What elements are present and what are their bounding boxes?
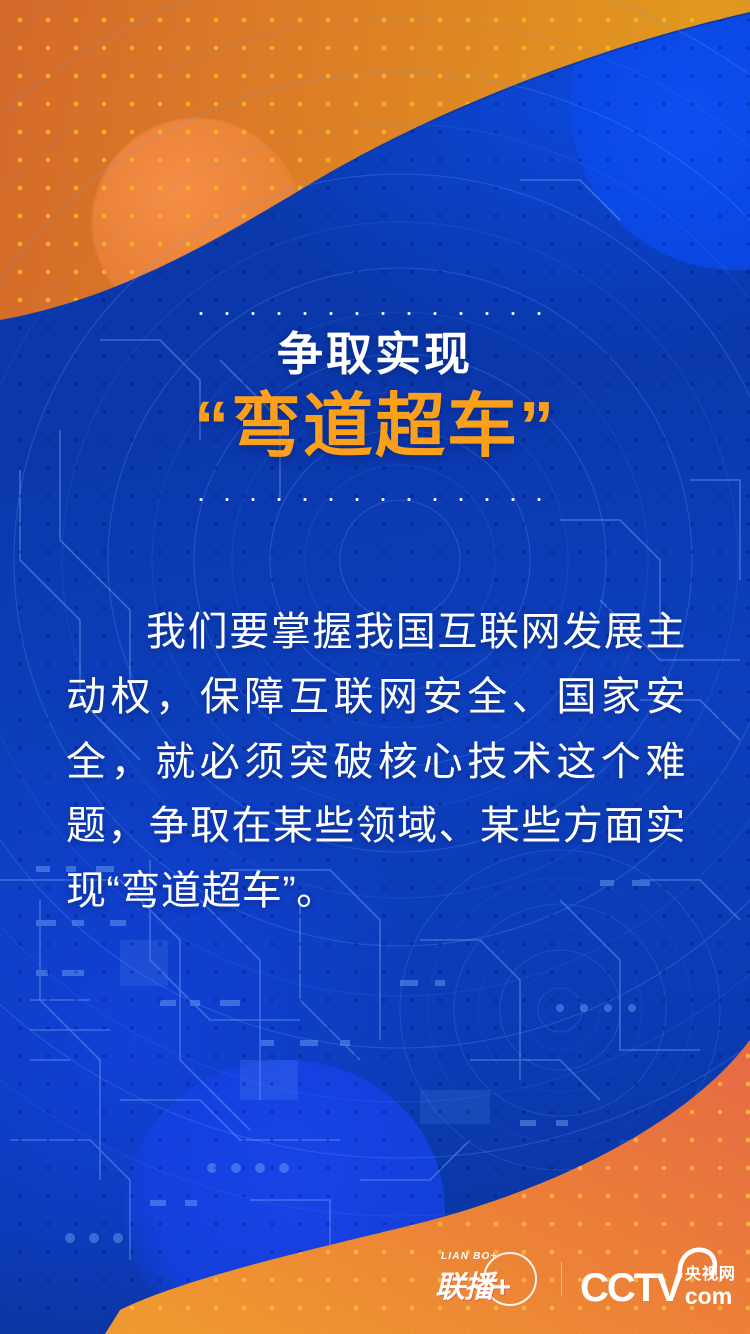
lianbo-chinese-text: 联播+ <box>435 1262 510 1306</box>
dotted-rule-top <box>188 311 563 316</box>
logo-divider <box>561 1262 562 1296</box>
headline-block: 争取实现 “弯道超车” <box>0 328 750 467</box>
quote-body-text: 我们要掌握我国互联网发展主动权，保障互联网安全、国家安全，就必须突破核心技术这个… <box>66 600 686 924</box>
cctv-logo[interactable]: CCTV 央视网 com <box>580 1250 736 1308</box>
cctv-swoosh-icon <box>676 1246 718 1288</box>
lianbo-plus-logo[interactable]: LIAN BO+ 联播+ <box>425 1248 543 1310</box>
lianbo-pinyin-text: LIAN BO+ <box>441 1251 498 1262</box>
headline-line-1: 争取实现 <box>0 328 750 381</box>
headline-line-2: “弯道超车” <box>0 385 750 468</box>
dotted-rule-bottom <box>188 497 563 502</box>
cctv-com-text: com <box>685 1285 736 1308</box>
poster-canvas: 争取实现 “弯道超车” 我们要掌握我国互联网发展主动权，保障互联网安全、国家安全… <box>0 0 750 1334</box>
footer-logo-bar: LIAN BO+ 联播+ CCTV 央视网 com <box>425 1248 736 1310</box>
cctv-wordmark: CCTV <box>580 1268 681 1308</box>
